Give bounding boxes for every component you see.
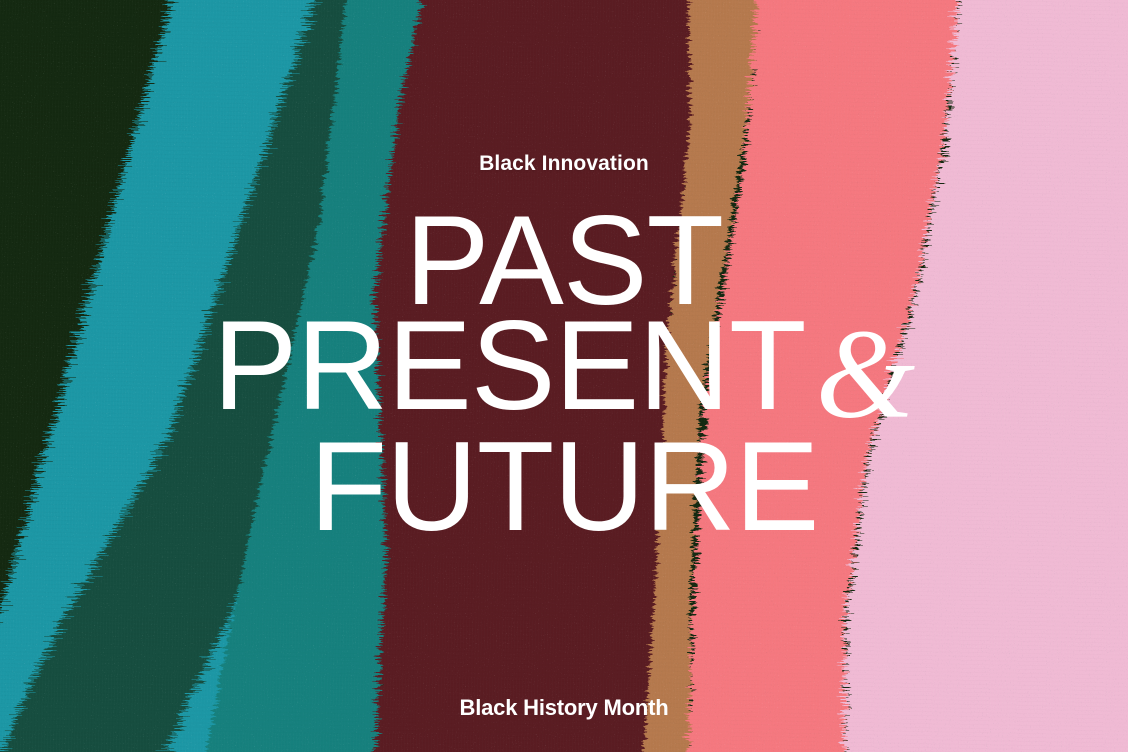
poster-canvas: Black Innovation PAST PRESENT& FUTURE Bl… bbox=[0, 0, 1128, 752]
headline-line-present: PRESENT& bbox=[0, 311, 1128, 421]
eyebrow-label: Black Innovation bbox=[0, 153, 1128, 174]
footer-label: Black History Month bbox=[0, 697, 1128, 719]
headline-line-future: FUTURE bbox=[0, 432, 1128, 541]
headline-ampersand: & bbox=[806, 303, 916, 445]
poster-copy: Black Innovation PAST PRESENT& FUTURE Bl… bbox=[0, 0, 1128, 752]
